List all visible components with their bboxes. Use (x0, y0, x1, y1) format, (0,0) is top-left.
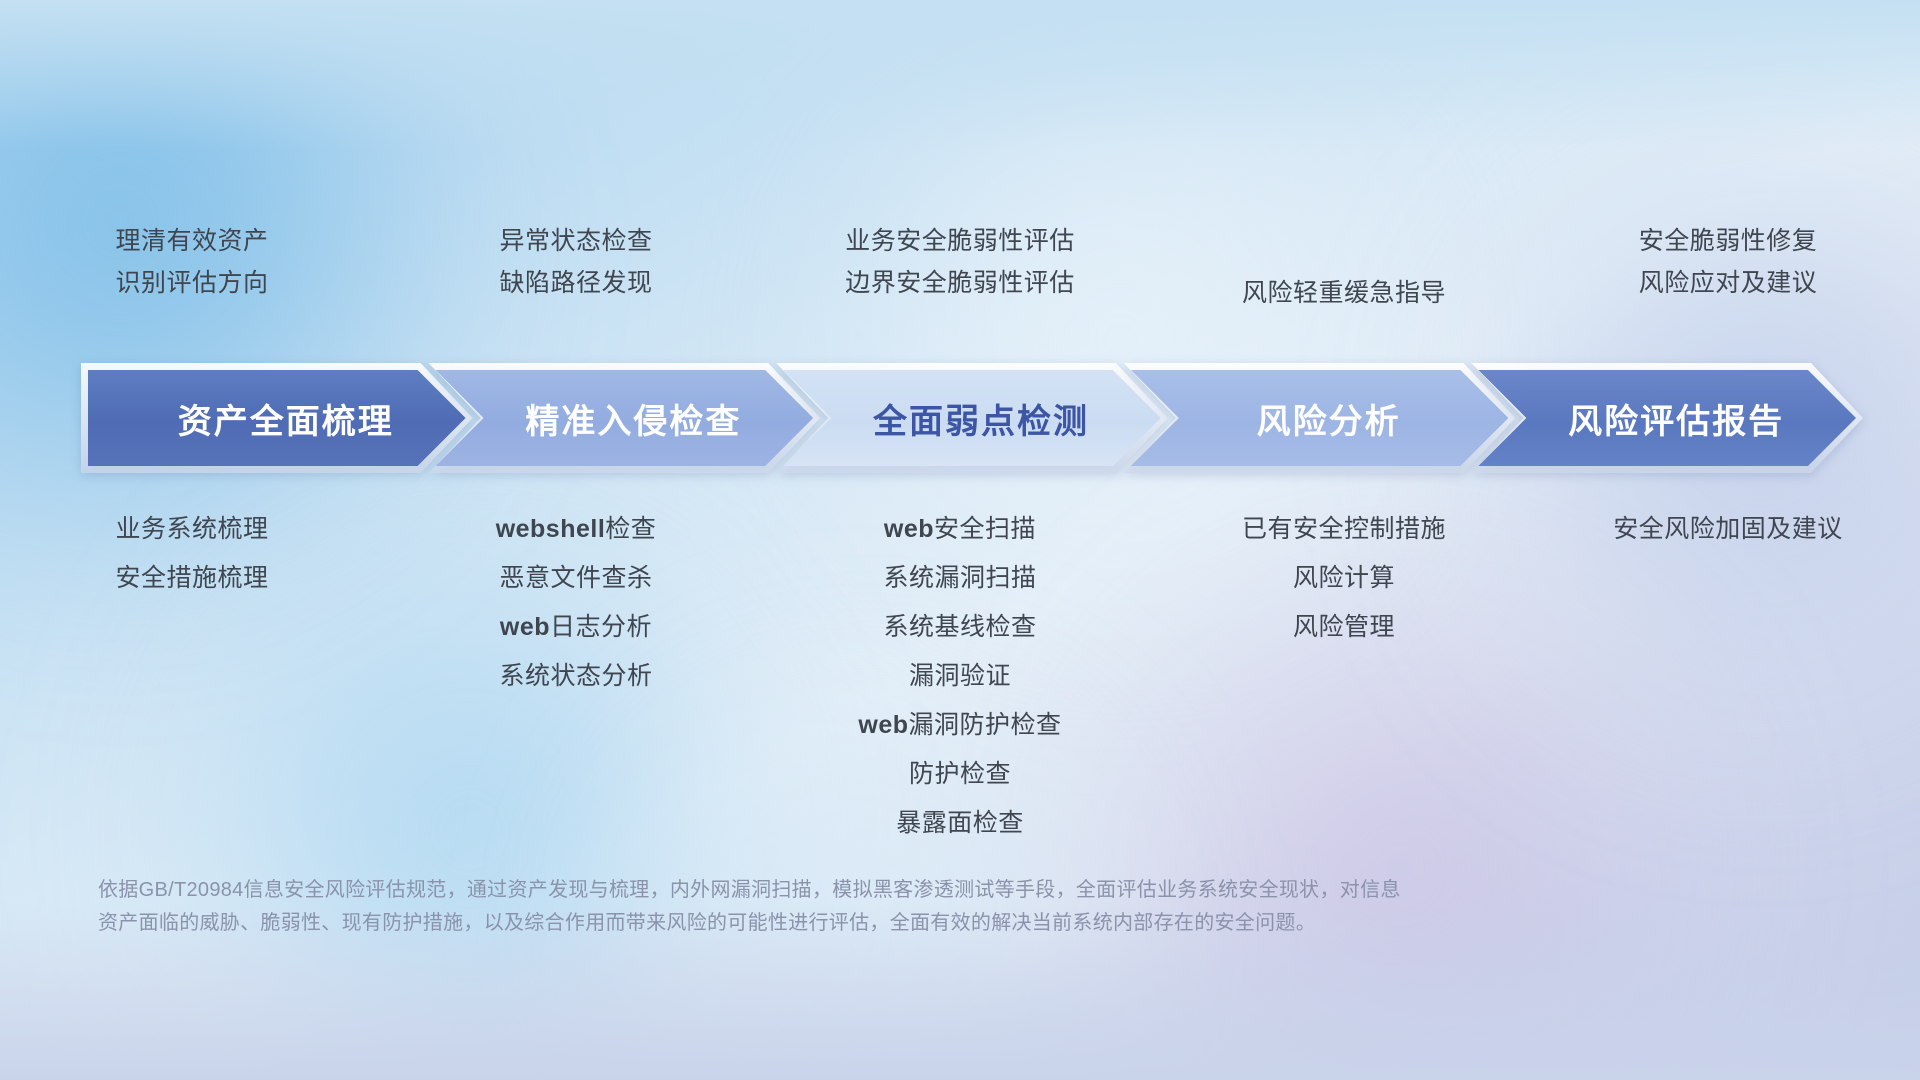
bottom-list-intrusion: webshell检查 恶意文件查杀 web日志分析 系统状态分析 (384, 505, 768, 701)
bottom-list-report: 安全风险加固及建议 (1536, 505, 1920, 554)
top-label: 安全脆弱性修复 (1639, 228, 1818, 256)
top-label: 风险轻重缓急指导 (1242, 280, 1446, 308)
top-label: 风险应对及建议 (1639, 270, 1818, 298)
stage-label: 风险评估报告 (1550, 394, 1784, 443)
process-diagram: 理清有效资产 识别评估方向 异常状态检查 缺陷路径发现 业务安全脆弱性评估 边界… (0, 0, 1920, 1080)
top-label: 异常状态检查 (499, 228, 652, 256)
list-item: webshell检查 (496, 505, 657, 554)
bottom-list-weakness: web安全扫描 系统漏洞扫描 系统基线检查 漏洞验证 web漏洞防护检查 防护检… (768, 505, 1152, 848)
list-item: 业务系统梳理 (115, 505, 268, 554)
list-item: 安全风险加固及建议 (1613, 505, 1843, 554)
stage-chevron-banner: 资产全面梳理 精准入侵检查 全面弱点检测 风险分析 风险评估报告 (88, 370, 1856, 466)
footer-description: 依据GB/T20984信息安全风险评估规范，通过资产发现与梳理，内外网漏洞扫描，… (98, 874, 1638, 940)
top-labels-row: 理清有效资产 识别评估方向 异常状态检查 缺陷路径发现 业务安全脆弱性评估 边界… (0, 228, 1920, 338)
stage-label: 风险分析 (1239, 394, 1401, 443)
top-labels-column-asset: 理清有效资产 识别评估方向 (0, 228, 384, 338)
list-item: 防护检查 (909, 750, 1011, 799)
stage-chevron-risk-analysis[interactable]: 风险分析 (1131, 370, 1509, 466)
list-item: web漏洞防护检查 (858, 701, 1061, 750)
list-item: 系统漏洞扫描 (883, 554, 1036, 603)
footer-line-2: 资产面临的威胁、脆弱性、现有防护措施，以及综合作用而带来风险的可能性进行评估，全… (98, 907, 1638, 940)
stage-label: 精准入侵检查 (507, 394, 741, 443)
bottom-list-risk-analysis: 已有安全控制措施 风险计算 风险管理 (1152, 505, 1536, 652)
top-labels-column-weakness: 业务安全脆弱性评估 边界安全脆弱性评估 (768, 228, 1152, 338)
stage-chevron-asset[interactable]: 资产全面梳理 (88, 370, 466, 466)
list-item: 风险管理 (1293, 603, 1395, 652)
top-labels-column-intrusion: 异常状态检查 缺陷路径发现 (384, 228, 768, 338)
list-item: 已有安全控制措施 (1242, 505, 1446, 554)
list-item: 安全措施梳理 (115, 554, 268, 603)
bottom-list-asset: 业务系统梳理 安全措施梳理 (0, 505, 384, 603)
footer-line-1: 依据GB/T20984信息安全风险评估规范，通过资产发现与梳理，内外网漏洞扫描，… (98, 874, 1638, 907)
top-labels-column-risk-analysis: 风险轻重缓急指导 (1152, 228, 1536, 338)
list-item: web日志分析 (500, 603, 652, 652)
list-item: 漏洞验证 (909, 652, 1011, 701)
stage-chevron-weakness[interactable]: 全面弱点检测 (783, 370, 1161, 466)
stage-chevron-report[interactable]: 风险评估报告 (1478, 370, 1856, 466)
top-label: 理清有效资产 (115, 228, 268, 256)
stage-label: 全面弱点检测 (855, 394, 1089, 443)
list-item: 系统状态分析 (499, 652, 652, 701)
stage-chevron-intrusion[interactable]: 精准入侵检查 (436, 370, 814, 466)
top-label: 边界安全脆弱性评估 (845, 270, 1075, 298)
list-item: web安全扫描 (884, 505, 1036, 554)
list-item: 风险计算 (1293, 554, 1395, 603)
list-item: 恶意文件查杀 (499, 554, 652, 603)
top-labels-column-report: 安全脆弱性修复 风险应对及建议 (1536, 228, 1920, 338)
stage-label: 资产全面梳理 (160, 394, 394, 443)
top-label: 业务安全脆弱性评估 (845, 228, 1075, 256)
bottom-lists-row: 业务系统梳理 安全措施梳理 webshell检查 恶意文件查杀 web日志分析 … (0, 505, 1920, 848)
list-item: 系统基线检查 (883, 603, 1036, 652)
top-label: 缺陷路径发现 (499, 270, 652, 298)
list-item: 暴露面检查 (896, 799, 1024, 848)
top-label: 识别评估方向 (115, 270, 268, 298)
